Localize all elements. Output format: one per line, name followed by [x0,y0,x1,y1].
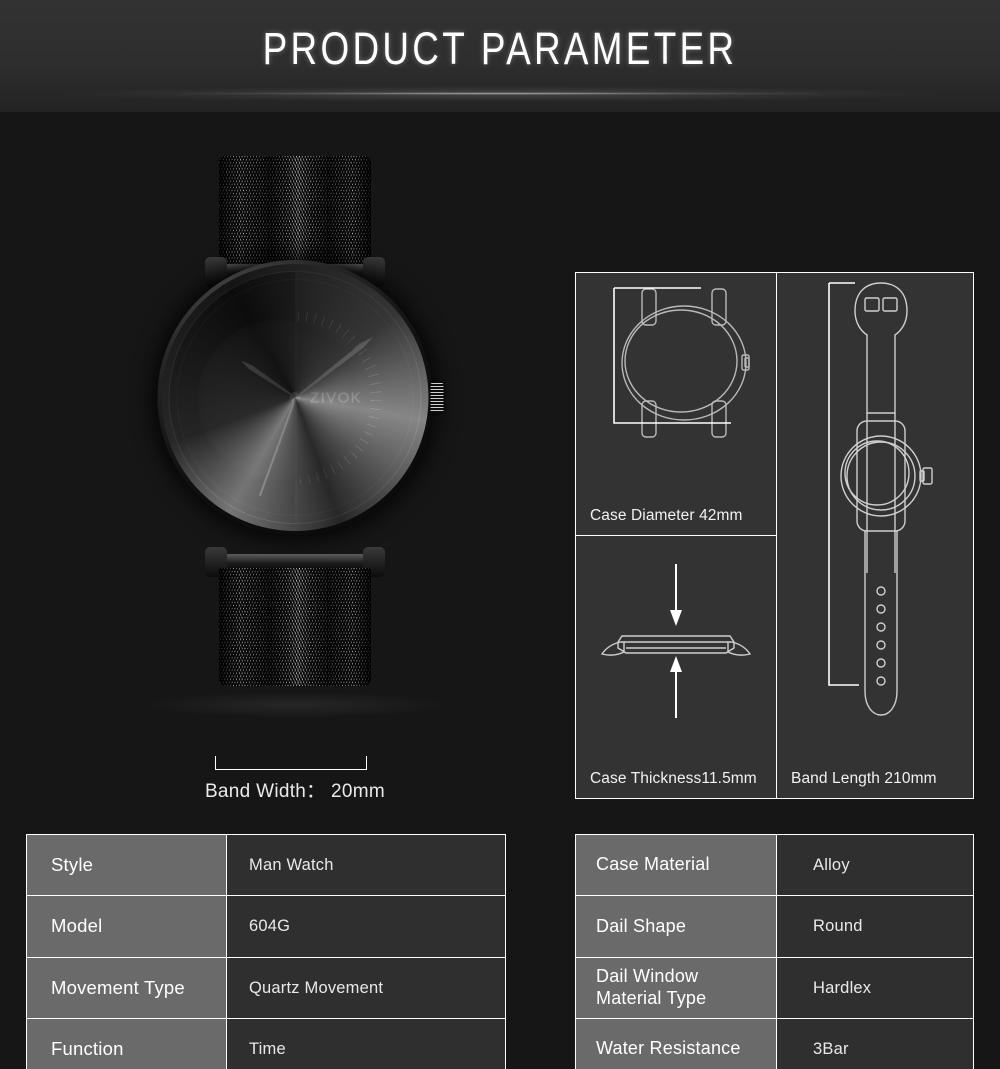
spec-label: Model [27,896,227,956]
spec-value: 3Bar [777,1019,973,1069]
page-header: PRODUCT PARAMETER [0,0,1000,112]
spec-value: Hardlex [777,958,973,1018]
spec-value: Quartz Movement [227,958,505,1018]
watch-crown [431,383,444,413]
case-thickness-caption: Case Thickness11.5mm [576,770,776,788]
diagram-panels: Case Diameter 42mm [575,272,974,799]
table-row: Case Material Alloy [576,835,973,895]
spec-table-right: Case Material Alloy Dail Shape Round Dai… [575,834,974,1069]
title-underline-glow [180,92,820,95]
table-row: Function Time [27,1018,505,1069]
spec-label: Water Resistance [576,1019,777,1069]
table-row: Model 604G [27,895,505,956]
dial-inner-ring [177,279,414,516]
dial-split-line [295,272,296,523]
minute-track [173,275,418,520]
minute-hand [293,335,373,399]
table-row: Movement Type Quartz Movement [27,957,505,1018]
spec-value: Alloy [777,835,973,895]
band-width-measure-bracket [215,756,367,770]
spec-label: Case Material [576,835,777,895]
case-thickness-panel: Case Thickness11.5mm [576,536,776,798]
band-width-caption: Band Width： 20mm [110,776,480,803]
band-length-caption: Band Length 210mm [777,770,973,788]
case-diameter-caption: Case Diameter 42mm [576,507,776,525]
band-length-panel: Band Length 210mm [777,273,973,798]
dial-skeleton-disc [197,320,358,481]
diagram-column-left: Case Diameter 42mm [576,273,777,798]
case-thickness-drawing [576,536,776,764]
mesh-band-bottom [219,568,371,686]
spec-label: Movement Type [27,958,227,1018]
spec-table-left: Style Man Watch Model 604G Movement Type… [26,834,506,1069]
table-row: Style Man Watch [27,835,505,895]
mesh-band-top [219,156,371,268]
page-title: PRODUCT PARAMETER [90,24,910,74]
hour-hand [239,359,297,400]
spec-label: Style [27,835,227,895]
product-parameter-page: PRODUCT PARAMETER ZIVOK [0,0,1000,1069]
spec-label: Dail Shape [576,896,777,956]
hands-center-cap [290,392,301,403]
case-diameter-drawing [576,273,776,498]
watch-dial: ZIVOK [169,271,422,524]
spec-value: Time [227,1019,505,1069]
watch-product-photo: ZIVOK [110,152,480,712]
dial-brand-text: ZIVOK [310,389,362,406]
table-row: Dail Window Material Type Hardlex [576,957,973,1018]
spec-value: Round [777,896,973,956]
band-length-drawing [777,273,973,765]
page-body: ZIVOK Band Width： 20mm [0,112,1000,1069]
spec-label: Function [27,1019,227,1069]
watch-case: ZIVOK [158,260,433,535]
second-hand [258,397,295,495]
table-row: Dail Shape Round [576,895,973,956]
photo-shadow [145,692,445,718]
case-diameter-panel: Case Diameter 42mm [576,273,776,536]
table-row: Water Resistance 3Bar [576,1018,973,1069]
spec-label: Dail Window Material Type [576,958,777,1018]
dial-right-half [295,272,421,523]
spec-value: Man Watch [227,835,505,895]
spec-value: 604G [227,896,505,956]
